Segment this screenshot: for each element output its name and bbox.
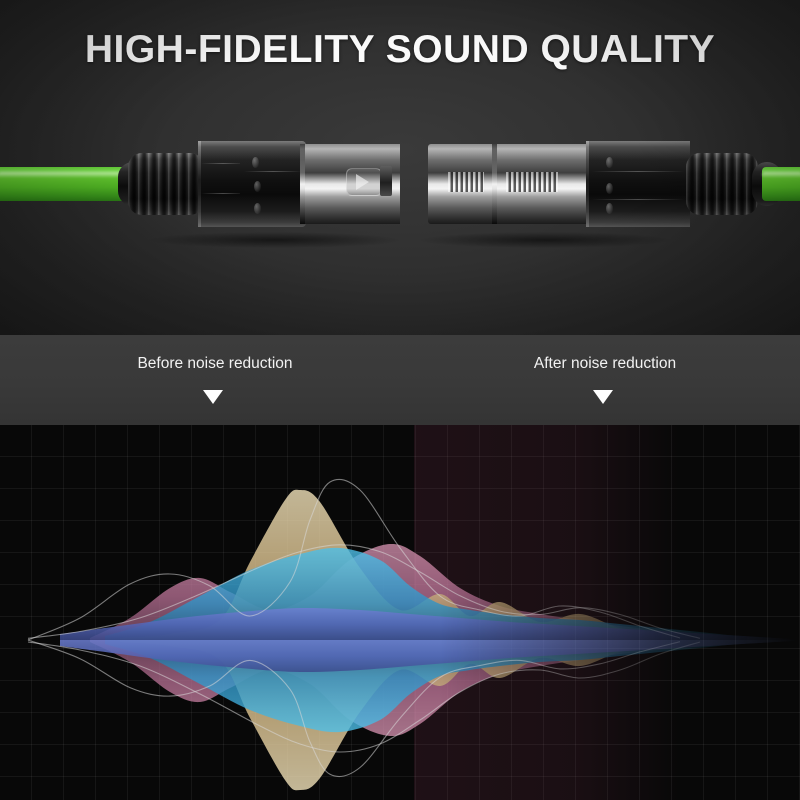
- barrel-grille-rear: [506, 172, 558, 192]
- strain-relief-boot-left: [128, 153, 204, 215]
- barrel-grille-front: [448, 172, 484, 192]
- play-triangle-icon: [356, 174, 369, 190]
- boot-ribs: [686, 153, 758, 215]
- shell-seam: [592, 171, 684, 172]
- barrel-ring: [300, 144, 305, 224]
- triangle-down-icon: [593, 390, 613, 404]
- before-label: Before noise reduction: [137, 355, 292, 373]
- female-xlr-connector: [400, 0, 800, 335]
- waveform-visualization-panel: [0, 425, 800, 800]
- connector-barrel-left: [300, 144, 400, 224]
- strain-relief-boot-right: [686, 153, 758, 215]
- triangle-down-icon: [203, 390, 223, 404]
- shell-vent-dot: [606, 157, 613, 168]
- shell-seam: [201, 163, 245, 164]
- male-xlr-connector: [0, 0, 400, 335]
- waveform-chart: [0, 425, 800, 800]
- shell-edge-highlight: [198, 141, 201, 227]
- after-label: After noise reduction: [534, 355, 676, 373]
- connector-shell-left-rear: [240, 141, 306, 227]
- connector-shell-right: [586, 141, 690, 227]
- shell-vent-dot: [252, 157, 259, 168]
- cable-segment-right: [762, 167, 800, 201]
- cable-highlight: [762, 172, 800, 178]
- connector-shadow: [420, 232, 670, 248]
- connector-barrel-right: [492, 144, 592, 224]
- shell-vent-dot: [606, 203, 613, 214]
- shell-seam: [201, 193, 245, 194]
- boot-ribs: [128, 153, 204, 215]
- shell-edge-highlight: [586, 141, 589, 227]
- shell-seam: [244, 171, 302, 172]
- comparison-label-strip: Before noise reduction After noise reduc…: [0, 335, 800, 425]
- product-photo-panel: HIGH-FIDELITY SOUND QUALITY: [0, 0, 800, 335]
- shell-seam: [592, 199, 684, 200]
- barrel-ring: [492, 144, 497, 224]
- connector-barrel-right-front: [428, 144, 500, 224]
- product-marketing-image: HIGH-FIDELITY SOUND QUALITY: [0, 0, 800, 800]
- latch-button-left[interactable]: [346, 168, 382, 196]
- connector-shadow: [150, 232, 400, 248]
- shell-vent-dot: [254, 203, 261, 214]
- shell-vent-dot: [254, 181, 261, 192]
- latch-tab-left: [380, 166, 392, 196]
- shell-vent-dot: [606, 183, 613, 194]
